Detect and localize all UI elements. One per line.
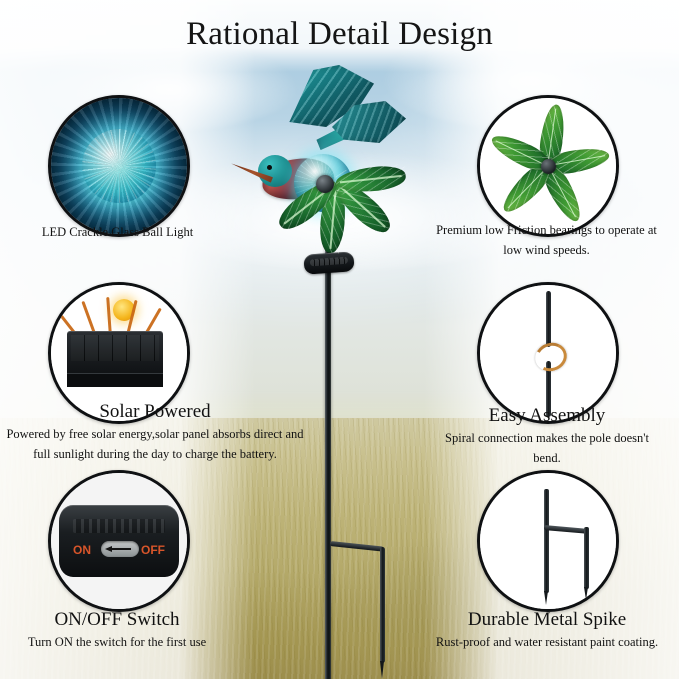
switch-on-label: ON xyxy=(73,543,91,557)
feature-body: Premium low Friction bearings to operate… xyxy=(434,220,659,260)
feature-caption-durable-metal-spike: Durable Metal Spike Rust-proof and water… xyxy=(432,608,662,652)
stake-crossbar xyxy=(330,541,384,552)
ground-stake-spike-icon xyxy=(480,473,616,609)
switch-housing: ON OFF xyxy=(59,505,179,577)
feature-caption-low-friction-bearings: Premium low Friction bearings to operate… xyxy=(434,220,659,260)
feature-image-led-crackle-glass-ball xyxy=(48,95,190,237)
product-infographic: Rational Detail Design LED Crackle Glass… xyxy=(0,0,679,679)
rotor-hub xyxy=(316,175,334,193)
spiral-pole-connection-icon xyxy=(480,285,616,421)
housing-lip xyxy=(67,373,163,387)
feature-caption-solar-powered: Solar Powered Powered by free solar ener… xyxy=(5,400,305,464)
feature-heading: LED Crackle Glass Ball Light xyxy=(10,222,225,242)
upper-pole-segment xyxy=(546,291,551,347)
feature-caption-led-crackle-glass-ball: LED Crackle Glass Ball Light xyxy=(10,222,225,242)
spike-second-leg xyxy=(584,527,589,589)
feature-caption-on-off-switch: ON/OFF Switch Turn ON the switch for the… xyxy=(14,608,220,652)
stake-pole xyxy=(325,223,331,679)
feature-heading: Solar Powered xyxy=(5,400,305,424)
feature-heading: ON/OFF Switch xyxy=(14,608,220,632)
feature-heading: Easy Assembly xyxy=(434,404,660,428)
vent-grill xyxy=(73,519,165,533)
stake-second-leg xyxy=(380,547,385,663)
on-off-rocker-switch-icon: ON OFF xyxy=(51,473,187,609)
solar-cell-grid xyxy=(71,335,159,361)
feature-image-low-friction-bearings xyxy=(477,95,619,237)
switch-off-label: OFF xyxy=(141,543,165,557)
feature-image-durable-metal-spike xyxy=(477,470,619,612)
feature-body: Rust-proof and water resistant paint coa… xyxy=(432,632,662,652)
page-title: Rational Detail Design xyxy=(0,16,679,53)
glowing-crackle-glass-ball-icon xyxy=(51,98,187,234)
solar-panel-module xyxy=(303,251,354,274)
feature-heading: Durable Metal Spike xyxy=(432,608,662,632)
hummingbird-eye xyxy=(267,165,272,170)
feature-body: Turn ON the switch for the first use xyxy=(14,632,220,652)
rotor-hub-icon xyxy=(541,159,556,174)
feature-body: Spiral connection makes the pole doesn't… xyxy=(434,428,660,468)
leaf-rotor-blades-icon xyxy=(480,98,616,234)
product-image xyxy=(232,55,447,665)
spike-main-shaft xyxy=(544,489,549,593)
spike-crossbar xyxy=(544,525,586,534)
solar-panel-housing xyxy=(67,331,163,387)
feature-caption-easy-assembly: Easy Assembly Spiral connection makes th… xyxy=(434,404,660,468)
hummingbird-head xyxy=(258,155,292,187)
feature-body: Powered by free solar energy,solar panel… xyxy=(5,424,305,464)
spiral-connector-icon xyxy=(531,339,570,376)
switch-direction-arrow-icon xyxy=(105,546,131,552)
feature-image-easy-assembly xyxy=(477,282,619,424)
feature-image-on-off-switch: ON OFF xyxy=(48,470,190,612)
